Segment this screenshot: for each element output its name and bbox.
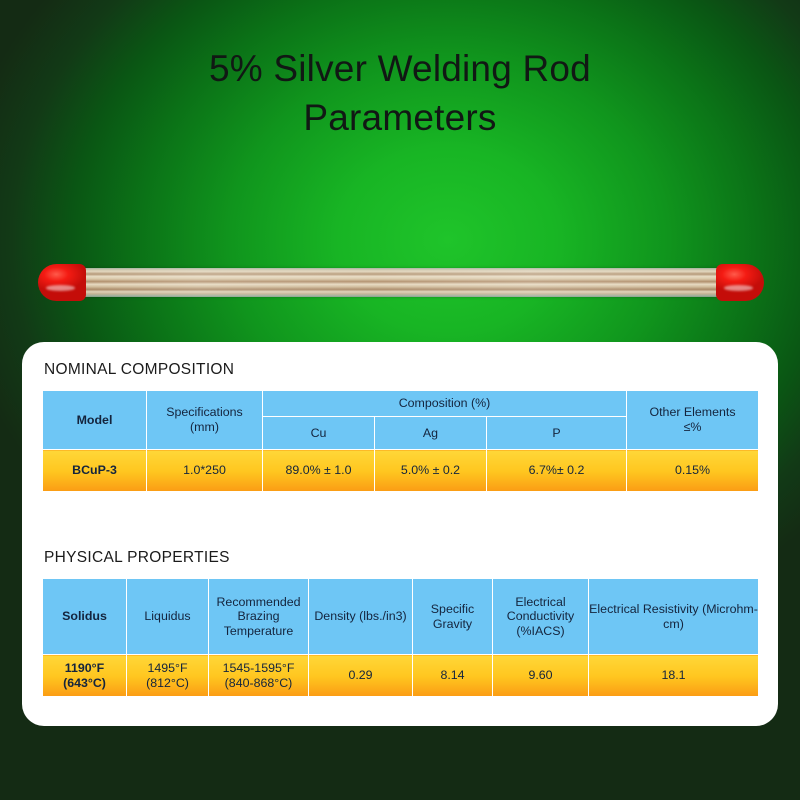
header-electrical-conductivity: Electrical Conductivity (%IACS) xyxy=(493,579,589,655)
header-other-elements-label: Other Elements xyxy=(649,405,735,419)
header-composition-group: Composition (%) xyxy=(263,391,627,417)
cell-model: BCuP-3 xyxy=(43,450,147,492)
cell-solidus-f: 1190°F xyxy=(65,661,104,675)
rod-end-cap-right-icon xyxy=(716,264,764,301)
table-row: 1190°F (643°C) 1495°F (812°C) 1545-1595°… xyxy=(43,655,759,697)
product-spec-page: 5% Silver Welding Rod Parameters NOMINAL… xyxy=(0,0,800,800)
header-model: Model xyxy=(43,391,147,450)
header-brazing-temperature: Recommended Brazing Temperature xyxy=(209,579,309,655)
section-label-physical-properties: PHYSICAL PROPERTIES xyxy=(44,549,758,567)
header-other-elements-unit: ≤% xyxy=(684,420,702,434)
header-ag: Ag xyxy=(375,417,487,450)
header-other-elements-text: Other Elements ≤% xyxy=(627,400,758,439)
rod-sheen xyxy=(82,268,722,297)
cell-electrical-resistivity: 18.1 xyxy=(589,655,759,697)
rod-bundle xyxy=(82,268,722,297)
cell-liquidus: 1495°F (812°C) xyxy=(127,655,209,697)
cell-brazing-f: 1545-1595°F xyxy=(223,661,295,675)
cell-cu: 89.0% ± 1.0 xyxy=(263,450,375,492)
cell-electrical-conductivity: 9.60 xyxy=(493,655,589,697)
cap-gloss-right xyxy=(724,285,754,291)
nominal-composition-table: Model Specifications (mm) Composition (%… xyxy=(42,390,759,492)
cell-p: 6.7%± 0.2 xyxy=(487,450,627,492)
header-specifications-label: Specifications xyxy=(166,405,242,419)
cell-liquidus-f: 1495°F xyxy=(147,661,187,675)
cell-solidus: 1190°F (643°C) xyxy=(43,655,127,697)
page-title: 5% Silver Welding Rod Parameters xyxy=(0,44,800,142)
header-other-elements: Other Elements ≤% xyxy=(627,391,759,450)
header-cu: Cu xyxy=(263,417,375,450)
physical-properties-table: Solidus Liquidus Recommended Brazing Tem… xyxy=(42,578,759,697)
cell-solidus-c: (643°C) xyxy=(63,676,106,690)
header-liquidus: Liquidus xyxy=(127,579,209,655)
header-specifications-unit: (mm) xyxy=(190,420,219,434)
header-specifications: Specifications (mm) xyxy=(147,391,263,450)
header-solidus: Solidus xyxy=(43,579,127,655)
header-electrical-resistivity: Electrical Resistivity (Microhm-cm) xyxy=(589,579,759,655)
table-row: BCuP-3 1.0*250 89.0% ± 1.0 5.0% ± 0.2 6.… xyxy=(43,450,759,492)
page-title-line-1: 5% Silver Welding Rod xyxy=(0,44,800,93)
cell-density: 0.29 xyxy=(309,655,413,697)
header-specifications-text: Specifications (mm) xyxy=(147,400,262,439)
cell-brazing-c: (840-868°C) xyxy=(225,676,293,690)
table-row-header-top: Model Specifications (mm) Composition (%… xyxy=(43,391,759,417)
cap-gloss-left xyxy=(46,285,76,291)
header-specific-gravity: Specific Gravity xyxy=(413,579,493,655)
cell-ag: 5.0% ± 0.2 xyxy=(375,450,487,492)
header-density: Density (lbs./in3) xyxy=(309,579,413,655)
cell-brazing-temperature: 1545-1595°F (840-868°C) xyxy=(209,655,309,697)
cell-liquidus-c: (812°C) xyxy=(146,676,189,690)
header-p: P xyxy=(487,417,627,450)
page-title-line-2: Parameters xyxy=(0,93,800,142)
rod-end-cap-left-icon xyxy=(38,264,86,301)
section-label-nominal-composition: NOMINAL COMPOSITION xyxy=(44,361,758,379)
cell-other-elements: 0.15% xyxy=(627,450,759,492)
cell-specific-gravity: 8.14 xyxy=(413,655,493,697)
product-image-welding-rod xyxy=(38,258,764,306)
specifications-card: NOMINAL COMPOSITION Model Specifications… xyxy=(22,342,778,726)
cell-specifications: 1.0*250 xyxy=(147,450,263,492)
table-row-header: Solidus Liquidus Recommended Brazing Tem… xyxy=(43,579,759,655)
